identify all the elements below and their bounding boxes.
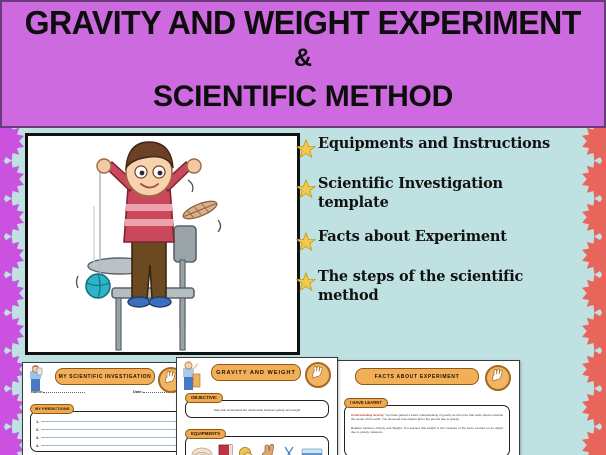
- section-label-learnt: I HAVE LEARNT: [344, 398, 388, 408]
- prediction-number: 4.: [36, 443, 39, 448]
- fact-paragraph: Understanding Gravity: You have gained a…: [351, 413, 503, 421]
- worksheet-previews: MY SCIENTIFIC INVESTIGATION Name: Date: …: [0, 352, 606, 455]
- section-label-objective: OBJECTIVE:: [185, 393, 223, 403]
- book-icon: [218, 444, 233, 455]
- list-item-label: Scientific Investigation template: [318, 175, 523, 212]
- page-subtitle: Scientific Method: [153, 80, 453, 113]
- section-label-equipments: EQUIPMENTS: [185, 429, 226, 439]
- worksheet-title: GRAVITY AND WEIGHT: [211, 364, 301, 381]
- worksheet-preview-facts[interactable]: FACTS ABOUT EXPERIMENT I HAVE LEARNT Und…: [334, 360, 520, 455]
- fact-paragraph: Relation between Gravity and Weight: You…: [351, 426, 503, 434]
- string-icon: [191, 446, 213, 455]
- list-item-label: Equipments and Instructions: [318, 135, 550, 154]
- star-icon: [296, 232, 316, 252]
- star-icon: [296, 272, 316, 292]
- child-on-chair-illustration: [28, 136, 297, 352]
- star-icon: [296, 179, 316, 199]
- objective-text: Help kids understand the relationship be…: [192, 408, 322, 412]
- list-item: Facts about Experiment: [300, 228, 582, 252]
- list-item-label: The steps of the scientific method: [318, 268, 543, 305]
- feature-list: Equipments and Instructions Scientific I…: [300, 133, 582, 358]
- hand-icon: [305, 362, 331, 388]
- worksheet-preview-investigation[interactable]: MY SCIENTIFIC INVESTIGATION Name: Date: …: [22, 362, 190, 455]
- section-label-predictions: MY PREDICTIONS: [30, 404, 74, 414]
- page-title: Gravity and Weight Experiment: [25, 6, 581, 41]
- scissors-icon: [282, 445, 296, 455]
- poster-header-band: Gravity and Weight Experiment & Scientif…: [0, 0, 606, 128]
- kid-icon: [27, 365, 44, 393]
- hand-icon: [485, 365, 511, 391]
- list-item: The steps of the scientific method: [300, 268, 582, 305]
- star-icon: [296, 139, 316, 159]
- worksheet-preview-gravity-weight[interactable]: GRAVITY AND WEIGHT OBJECTIVE: Help kids …: [176, 357, 338, 455]
- list-item: Scientific Investigation template: [300, 175, 582, 212]
- coins-icon: [238, 446, 254, 455]
- worksheet-title: MY SCIENTIFIC INVESTIGATION: [55, 368, 155, 385]
- prediction-number: 1.: [36, 419, 39, 424]
- poster-page: Gravity and Weight Experiment & Scientif…: [0, 0, 606, 455]
- prediction-number: 3.: [36, 435, 39, 440]
- title-ampersand: &: [294, 43, 312, 74]
- prediction-number: 2.: [36, 427, 39, 432]
- illustration-panel: [25, 133, 300, 355]
- worksheet-title: FACTS ABOUT EXPERIMENT: [355, 368, 479, 385]
- list-item: Equipments and Instructions: [300, 135, 582, 159]
- hand-holding-icon: [259, 444, 277, 455]
- water-bottle-icon: [301, 447, 323, 455]
- list-item-label: Facts about Experiment: [318, 228, 507, 247]
